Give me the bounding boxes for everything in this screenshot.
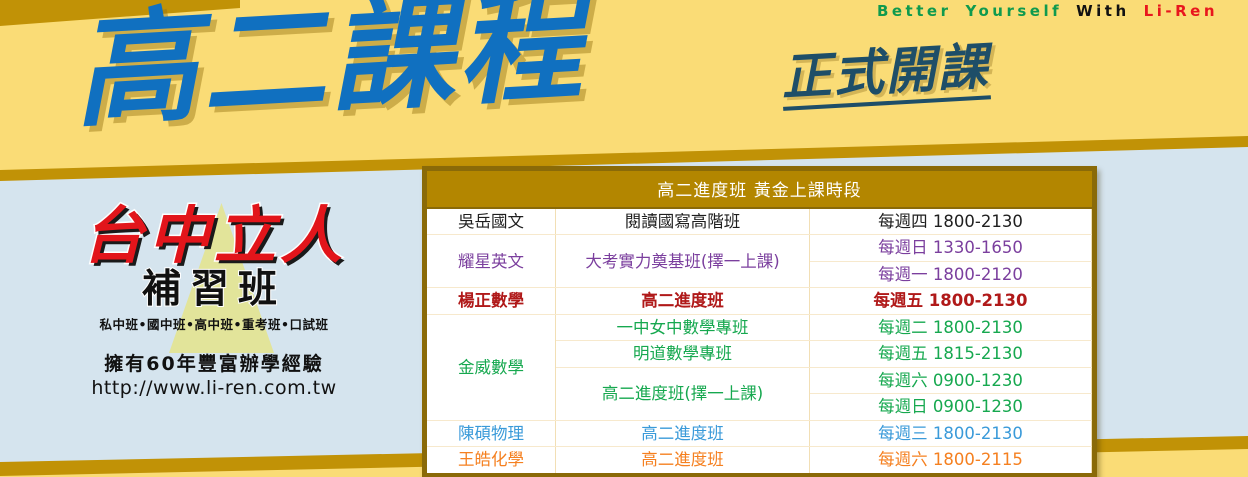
- table-row: 楊正數學高二進度班每週五 1800-2130: [427, 288, 1092, 314]
- cell-course: 高二進度班: [556, 288, 810, 314]
- cell-teacher: 金威數學: [427, 314, 556, 420]
- cell-course: 明道數學專班: [556, 341, 810, 367]
- cell-teacher: 王皓化學: [427, 447, 556, 473]
- cell-teacher: 吳岳國文: [427, 209, 556, 235]
- headline-group: 高二課程: [70, 0, 588, 136]
- schedule-header: 高二進度班 黃金上課時段: [427, 171, 1092, 209]
- table-row: 吳岳國文閱讀國寫高階班每週四 1800-2130: [427, 209, 1092, 235]
- promotional-banner: BetterYourselfWithLi-Ren 高二課程 正式開課 台中立人 …: [0, 0, 1248, 477]
- cell-teacher: 楊正數學: [427, 288, 556, 314]
- cell-time: 每週六 0900-1230: [810, 367, 1092, 393]
- tagline-word-better: Better: [877, 2, 952, 20]
- logo-website-url: http://www.li-ren.com.tw: [44, 377, 384, 399]
- table-row: 金威數學一中女中數學專班每週二 1800-2130: [427, 314, 1092, 340]
- logo-class-list: 私中班•國中班•高中班•重考班•口試班: [44, 314, 384, 333]
- logo-school-type: 補習班: [44, 270, 384, 309]
- page-title: 高二課程: [70, 0, 588, 136]
- cell-time: 每週日 1330-1650: [810, 235, 1092, 261]
- headline-subtitle: 正式開課: [780, 40, 991, 110]
- cell-course: 閱讀國寫高階班: [556, 209, 810, 235]
- cell-time: 每週三 1800-2130: [810, 420, 1092, 446]
- cell-time: 每週二 1800-2130: [810, 314, 1092, 340]
- table-row: 王皓化學高二進度班每週六 1800-2115: [427, 447, 1092, 473]
- table-row: 陳碩物理高二進度班每週三 1800-2130: [427, 420, 1092, 446]
- cell-course: 高二進度班: [556, 420, 810, 446]
- cell-course: 一中女中數學專班: [556, 314, 810, 340]
- logo-school-name: 台中立人: [44, 205, 384, 267]
- cell-time: 每週日 0900-1230: [810, 394, 1092, 420]
- tagline: BetterYourselfWithLi-Ren: [877, 2, 1232, 20]
- logo-experience: 擁有60年豐富辦學經驗: [44, 349, 384, 376]
- tagline-word-with: With: [1076, 2, 1130, 20]
- cell-course: 高二進度班(擇一上課): [556, 367, 810, 420]
- cell-time: 每週六 1800-2115: [810, 447, 1092, 473]
- tagline-word-liren: Li-Ren: [1144, 2, 1218, 20]
- cell-course: 大考實力奠基班(擇一上課): [556, 235, 810, 288]
- cell-time: 每週五 1800-2130: [810, 288, 1092, 314]
- schedule-table: 吳岳國文閱讀國寫高階班每週四 1800-2130耀星英文大考實力奠基班(擇一上課…: [427, 209, 1092, 473]
- tagline-word-yourself: Yourself: [965, 2, 1062, 20]
- logo: 台中立人 補習班 私中班•國中班•高中班•重考班•口試班 擁有60年豐富辦學經驗…: [44, 205, 384, 399]
- cell-teacher: 陳碩物理: [427, 420, 556, 446]
- cell-course: 高二進度班: [556, 447, 810, 473]
- schedule-table-container: 高二進度班 黃金上課時段 吳岳國文閱讀國寫高階班每週四 1800-2130耀星英…: [422, 166, 1097, 477]
- cell-teacher: 耀星英文: [427, 235, 556, 288]
- headline-subtitle-group: 正式開課: [780, 40, 991, 110]
- cell-time: 每週五 1815-2130: [810, 341, 1092, 367]
- cell-time: 每週一 1800-2120: [810, 261, 1092, 287]
- table-row: 耀星英文大考實力奠基班(擇一上課)每週日 1330-1650: [427, 235, 1092, 261]
- cell-time: 每週四 1800-2130: [810, 209, 1092, 235]
